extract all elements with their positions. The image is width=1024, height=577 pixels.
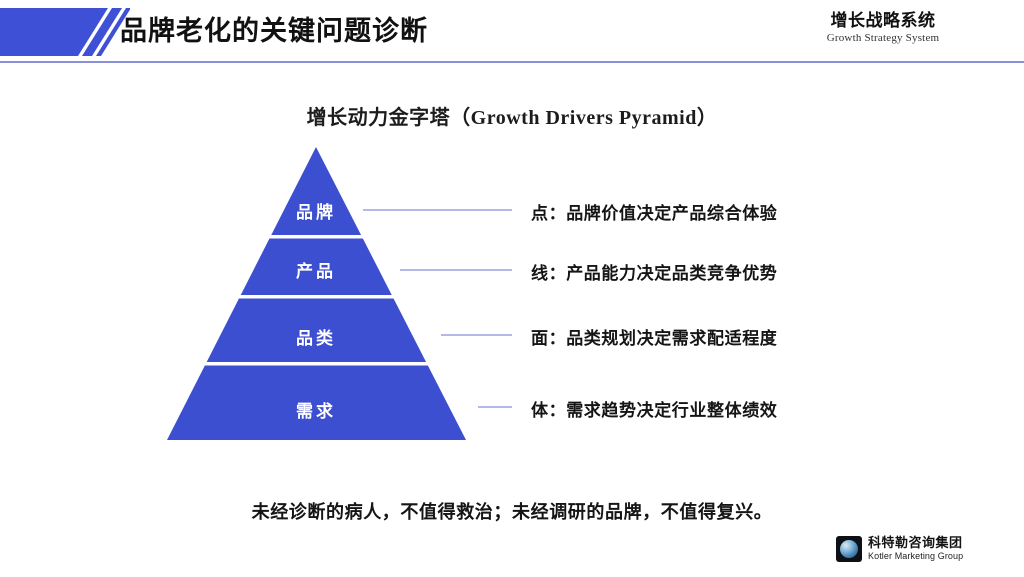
kotler-logo-cn: 科特勒咨询集团	[868, 536, 963, 551]
footnote-text: 未经诊断的病人，不值得救治；未经调研的品牌，不值得复兴。	[0, 498, 1024, 524]
pyramid-annotation-1: 点：品牌价值决定产品综合体验	[531, 199, 777, 224]
pyramid-annotation-2: 线：产品能力决定品类竞争优势	[531, 259, 777, 284]
pyramid-connector-lines	[0, 0, 1024, 577]
orb-glyph	[840, 540, 858, 558]
pyramid-annotation-3: 面：品类规划决定需求配适程度	[531, 324, 777, 349]
pyramid-annotation-4: 体：需求趋势决定行业整体绩效	[531, 396, 777, 421]
kotler-logo-en: Kotler Marketing Group	[868, 551, 963, 562]
kotler-logo: 科特勒咨询集团 Kotler Marketing Group	[836, 536, 963, 562]
kotler-orb-icon	[836, 536, 862, 562]
kotler-logo-text: 科特勒咨询集团 Kotler Marketing Group	[868, 536, 963, 562]
